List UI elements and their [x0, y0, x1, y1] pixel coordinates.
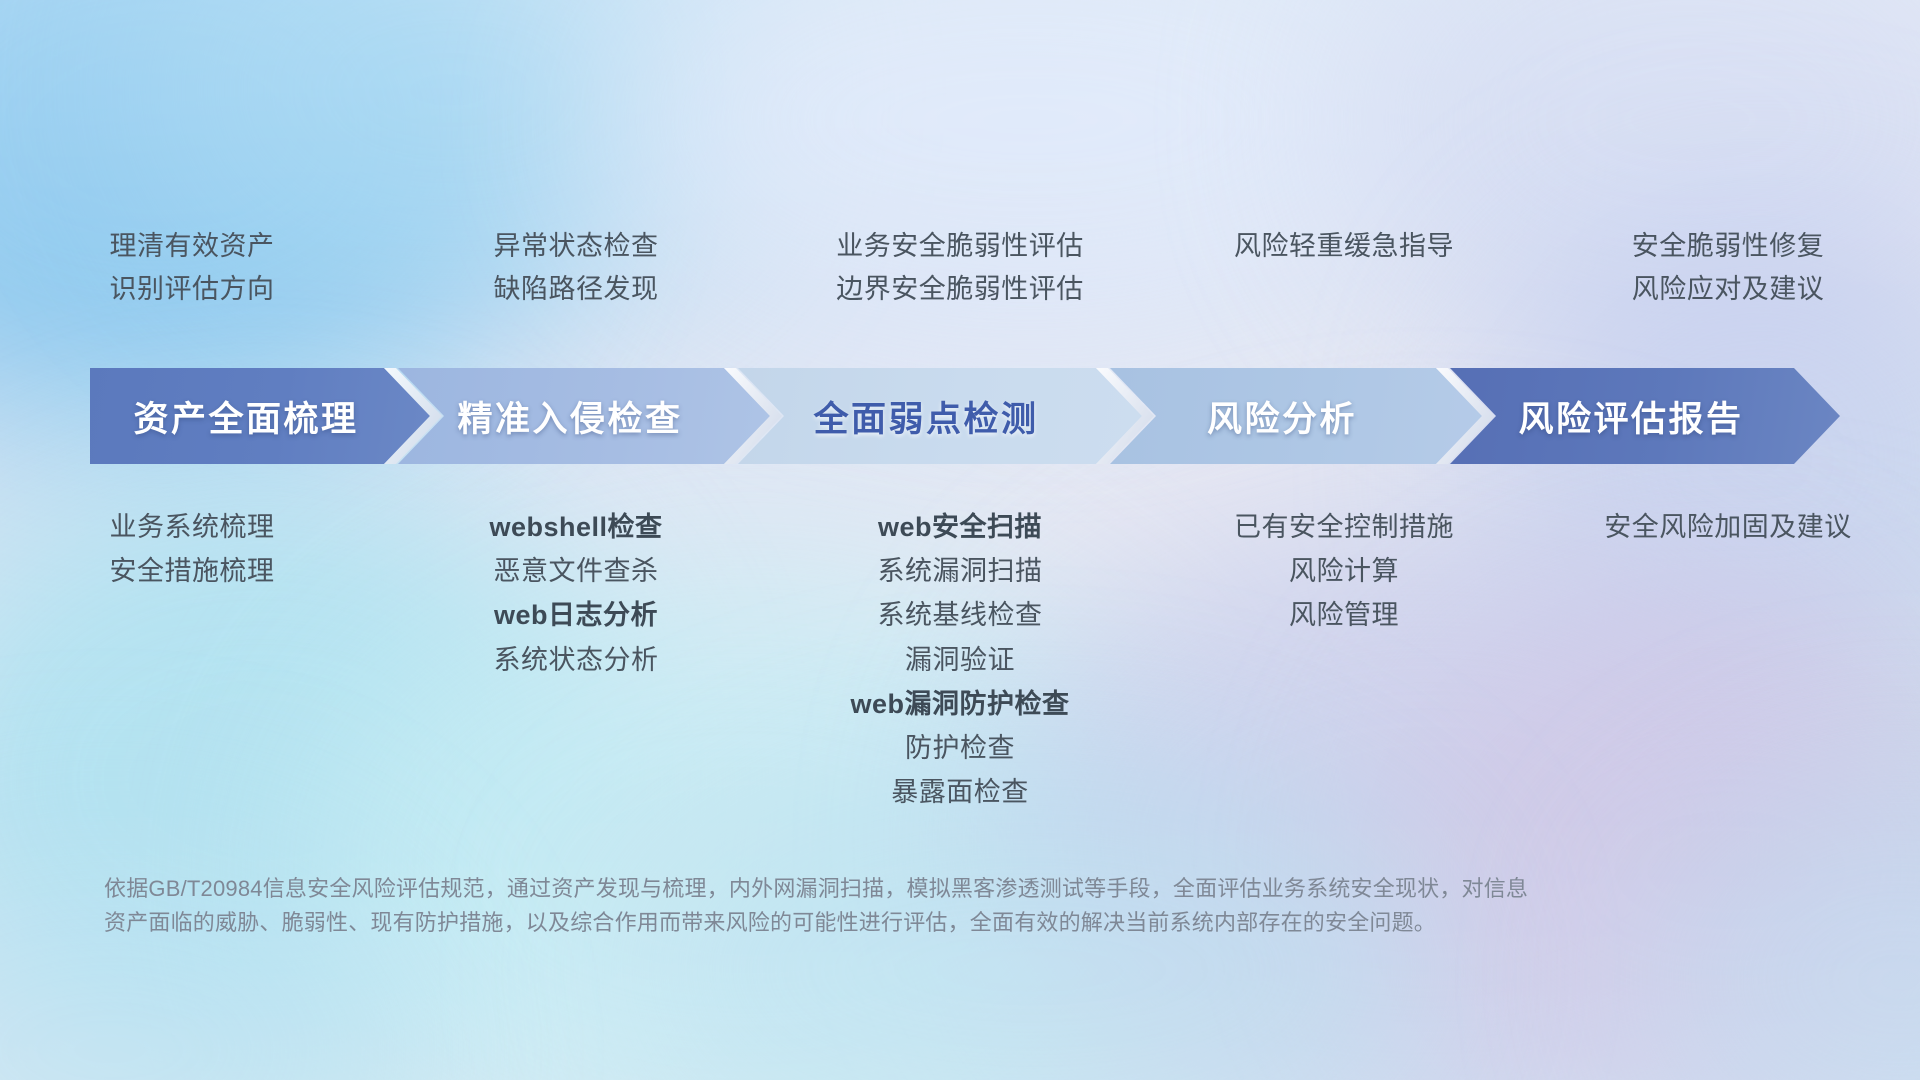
detail-item: webshell检查	[489, 512, 662, 542]
detail-item: web漏洞防护检查	[850, 689, 1069, 719]
bottom-details-intrusion-check: webshell检查 恶意文件查杀 web日志分析 系统状态分析	[384, 512, 768, 808]
top-annotation-item: 风险应对及建议	[1632, 275, 1825, 305]
top-annotation-item: 缺陷路径发现	[494, 275, 659, 305]
detail-item: 业务系统梳理	[110, 512, 275, 542]
top-annotation-item: 边界安全脆弱性评估	[836, 275, 1084, 305]
detail-item: 暴露面检查	[891, 777, 1029, 807]
footer-description: 依据GB/T20984信息安全风险评估规范，通过资产发现与梳理，内外网漏洞扫描，…	[104, 872, 1704, 940]
bottom-details-weakness-detection: web安全扫描 系统漏洞扫描 系统基线检查 漏洞验证 web漏洞防护检查 防护检…	[768, 512, 1152, 808]
detail-item: 系统基线检查	[878, 600, 1043, 630]
bottom-details-row: 业务系统梳理 安全措施梳理 webshell检查 恶意文件查杀 web日志分析 …	[0, 512, 1920, 808]
top-annotation-item: 业务安全脆弱性评估	[836, 232, 1084, 262]
diagram-content: 理清有效资产 识别评估方向 异常状态检查 缺陷路径发现 业务安全脆弱性评估 边界…	[0, 0, 1920, 1080]
detail-item: web日志分析	[494, 600, 658, 630]
chevron-stage-risk-analysis[interactable]: 风险分析	[1110, 368, 1482, 464]
top-annotation-item: 异常状态检查	[494, 232, 659, 262]
chevron-label: 全面弱点检测	[813, 391, 1038, 442]
chevron-label: 精准入侵检查	[457, 391, 682, 442]
detail-item: 系统漏洞扫描	[878, 556, 1043, 586]
detail-item: 防护检查	[905, 733, 1015, 763]
detail-item: 恶意文件查杀	[494, 556, 659, 586]
chevron-stage-intrusion-check[interactable]: 精准入侵检查	[398, 368, 770, 464]
top-annotations-risk-report: 安全脆弱性修复 风险应对及建议	[1536, 232, 1920, 304]
bottom-details-risk-report: 安全风险加固及建议	[1536, 512, 1920, 808]
top-annotations-row: 理清有效资产 识别评估方向 异常状态检查 缺陷路径发现 业务安全脆弱性评估 边界…	[0, 232, 1920, 304]
top-annotation-item: 理清有效资产	[110, 232, 275, 262]
detail-item: web安全扫描	[878, 512, 1042, 542]
detail-item: 风险计算	[1289, 556, 1399, 586]
top-annotations-risk-analysis: 风险轻重缓急指导	[1152, 232, 1536, 304]
detail-item: 安全措施梳理	[110, 556, 275, 586]
top-annotation-item: 识别评估方向	[110, 275, 275, 305]
detail-item: 已有安全控制措施	[1234, 512, 1454, 542]
detail-item: 系统状态分析	[494, 645, 659, 675]
top-annotation-item: 安全脆弱性修复	[1632, 232, 1825, 262]
top-annotation-item: 风险轻重缓急指导	[1234, 232, 1454, 262]
chevron-label: 风险分析	[1207, 391, 1357, 442]
top-annotations-intrusion-check: 异常状态检查 缺陷路径发现	[384, 232, 768, 304]
detail-item: 漏洞验证	[905, 645, 1015, 675]
bottom-details-asset-inventory: 业务系统梳理 安全措施梳理	[0, 512, 384, 808]
chevron-stage-asset-inventory[interactable]: 资产全面梳理	[90, 368, 430, 464]
process-chevron-band: 资产全面梳理 精准入侵检查 全面弱点检测 风险分析 风险评估报告	[90, 368, 1840, 464]
chevron-stage-risk-report[interactable]: 风险评估报告	[1450, 368, 1840, 464]
footer-line: 资产面临的威胁、脆弱性、现有防护措施，以及综合作用而带来风险的可能性进行评估，全…	[104, 906, 1704, 940]
detail-item: 风险管理	[1289, 600, 1399, 630]
detail-item: 安全风险加固及建议	[1604, 512, 1852, 542]
chevron-label: 资产全面梳理	[133, 391, 358, 442]
bottom-details-risk-analysis: 已有安全控制措施 风险计算 风险管理	[1152, 512, 1536, 808]
chevron-stage-weakness-detection[interactable]: 全面弱点检测	[738, 368, 1142, 464]
chevron-label: 风险评估报告	[1518, 391, 1743, 442]
footer-line: 依据GB/T20984信息安全风险评估规范，通过资产发现与梳理，内外网漏洞扫描，…	[104, 872, 1704, 906]
top-annotations-asset-inventory: 理清有效资产 识别评估方向	[0, 232, 384, 304]
slide-canvas: 理清有效资产 识别评估方向 异常状态检查 缺陷路径发现 业务安全脆弱性评估 边界…	[0, 0, 1920, 1080]
top-annotations-weakness-detection: 业务安全脆弱性评估 边界安全脆弱性评估	[768, 232, 1152, 304]
